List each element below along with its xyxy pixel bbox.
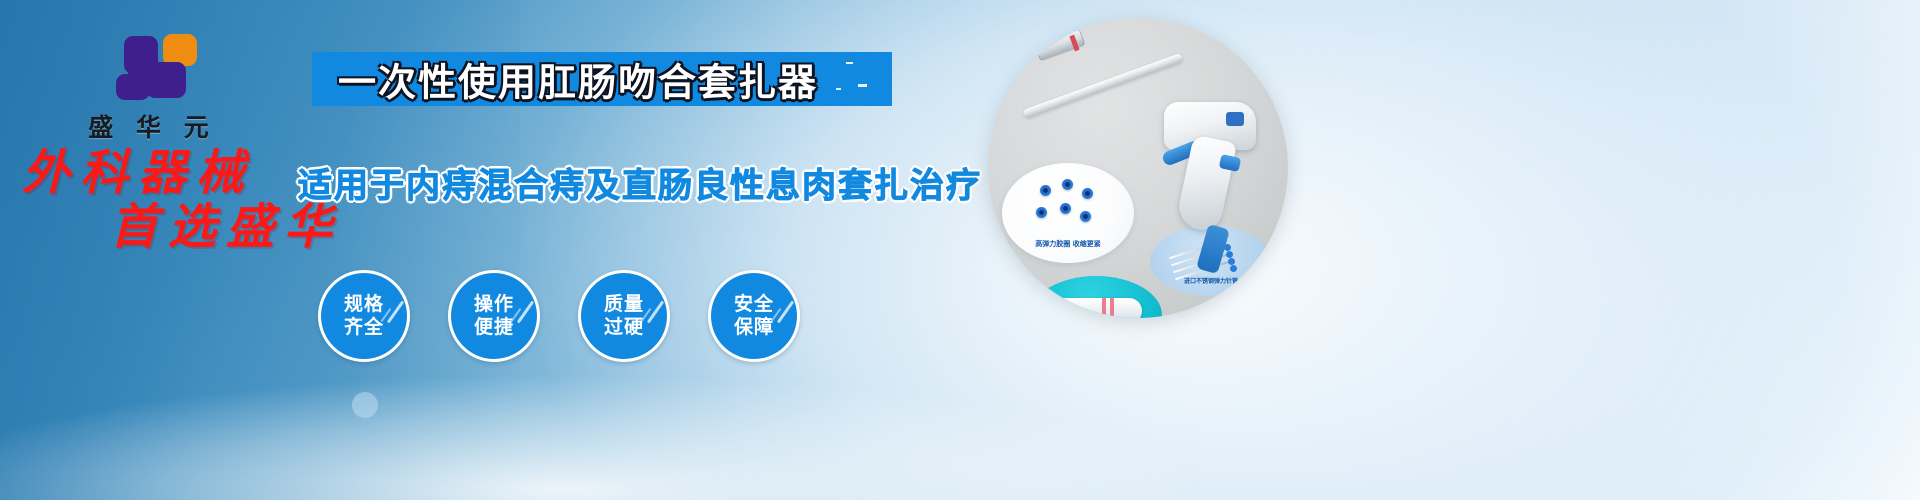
rubber-band-icon [1036,207,1047,218]
slogan-line-2: 首选盛华 [110,202,362,252]
badge-shine-icon [517,300,534,323]
cartridge-ring-icon [1102,298,1106,318]
rubber-band-icon [1060,203,1071,214]
promo-banner: 盛 华 元 外科器械 首选盛华 一次性使用肛肠吻合套扎器 适用于内痔混合痔及直肠… [0,0,1920,500]
feature-badge-line-1: 安全 [734,293,774,316]
needle-tip-icon [1226,251,1233,258]
title-bar: 一次性使用肛肠吻合套扎器 [312,52,892,106]
rubber-band-icon [1040,185,1051,196]
feature-badge-specs[interactable]: 规格 齐全 [318,270,410,362]
device-shaft-icon [1022,53,1183,119]
cartridge-icon [1048,298,1142,318]
rubber-band-icon [1062,179,1073,190]
badge-shine-icon [387,300,404,323]
feature-badge-line-1: 质量 [604,293,644,316]
feature-badge-safety[interactable]: 安全 保障 [708,270,800,362]
rubber-band-icon [1082,188,1093,199]
cartridge-ring-icon [1110,298,1114,318]
needles-label: 进口不锈钢弹力针管 [1152,276,1270,285]
bottom-glow-overlay [0,370,1920,500]
badge-shine-icon [647,300,664,323]
subtitle-text: 适用于内痔混合痔及直肠良性息肉套扎治疗 [298,166,982,206]
page-title: 一次性使用肛肠吻合套扎器 [338,52,818,107]
feature-badge-list: 规格 齐全 操作 便捷 质量 过硬 安全 保障 [318,270,800,362]
rubber-bands-callout: 高弹力胶圈 收缩更紧 [1002,163,1134,263]
feature-badge-line-1: 规格 [344,293,384,316]
cartridge-callout [1030,276,1162,318]
feature-badge-line-2: 便捷 [474,316,514,339]
feature-badge-operation[interactable]: 操作 便捷 [448,270,540,362]
device-indicator-icon [1226,112,1244,126]
subtitle: 适用于内痔混合痔及直肠良性息肉套扎治疗 [298,158,982,207]
feature-badge-quality[interactable]: 质量 过硬 [578,270,670,362]
badge-shine-icon [777,300,794,323]
sparkle-icon [836,88,841,90]
sparkle-icon [858,84,867,87]
cartridge-cap-icon [1048,302,1068,318]
sparkle-icon [846,62,853,64]
logo-mark-icon [106,28,198,102]
logo-block-connector [128,66,172,78]
brand-name: 盛 华 元 [62,108,242,144]
feature-badge-line-1: 操作 [474,293,514,316]
brand-logo[interactable]: 盛 华 元 [62,28,242,144]
feature-badge-line-2: 过硬 [604,316,644,339]
feature-badge-line-2: 齐全 [344,316,384,339]
feature-badge-line-2: 保障 [734,316,774,339]
rubber-band-icon [1080,211,1091,222]
needle-tip-icon [1228,258,1235,265]
needle-tip-icon [1230,265,1237,272]
rubber-bands-label: 高弹力胶圈 收缩更紧 [1008,239,1128,249]
decorative-dot [352,392,378,418]
product-photo[interactable]: 高弹力胶圈 收缩更紧 进口不锈钢弹力针管 [988,18,1288,318]
